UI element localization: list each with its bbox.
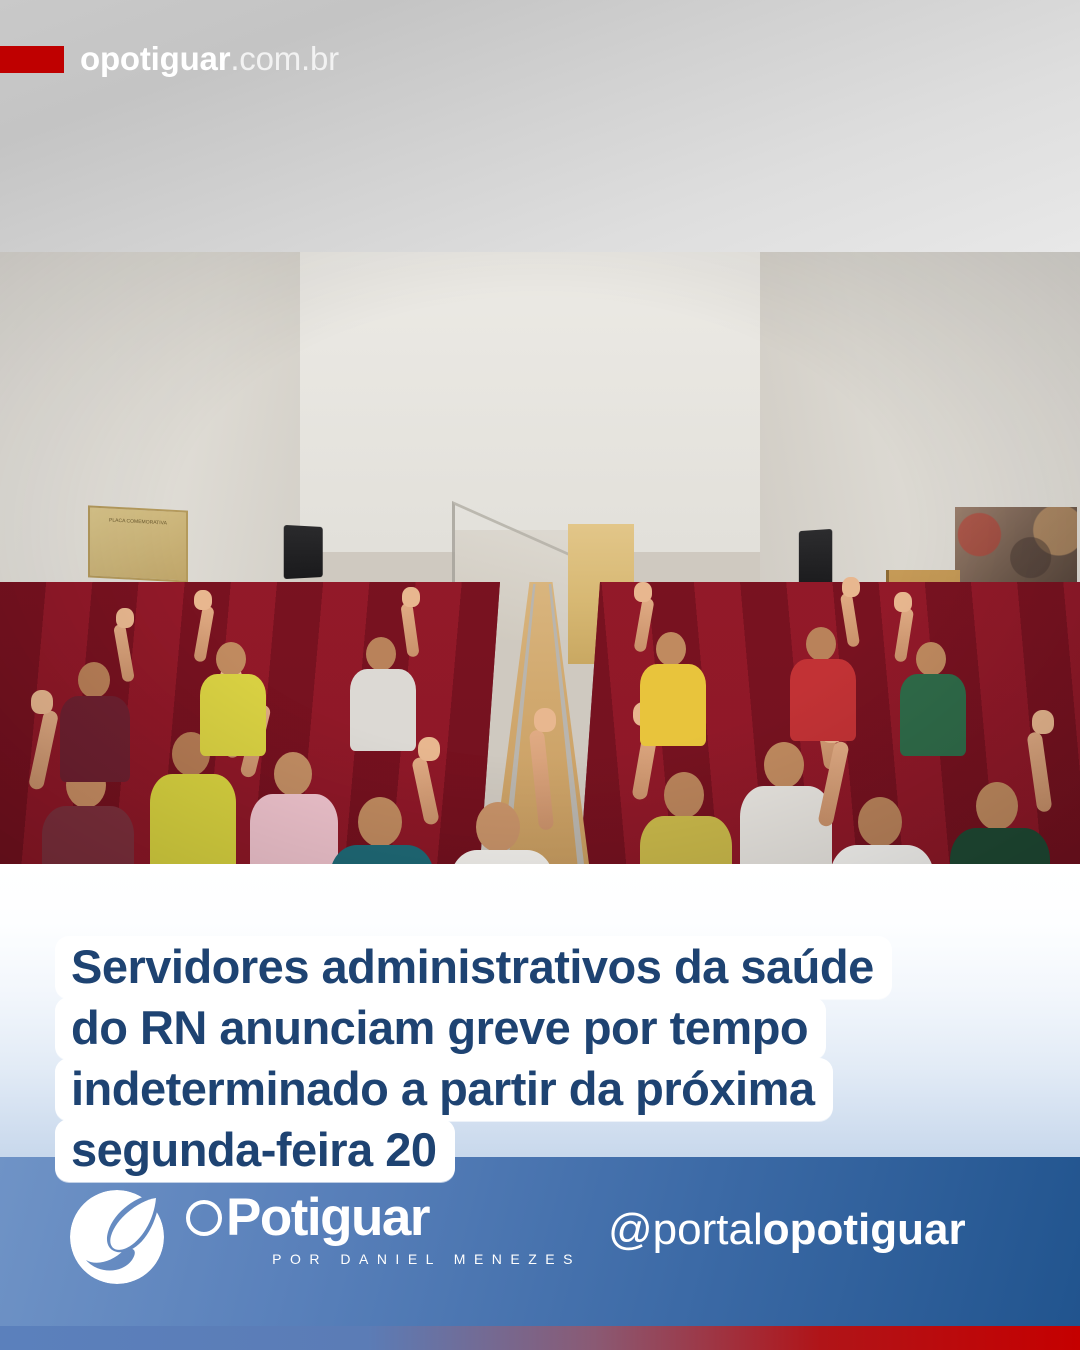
potiguar-swirl-leaf-icon <box>68 1188 166 1286</box>
audience-crowd <box>0 582 1080 864</box>
headline-block: Servidores administrativos da saúde do R… <box>55 936 892 1180</box>
logo-o-ring-icon <box>186 1200 222 1236</box>
headline-line: indeterminado a partir da próxima <box>55 1058 833 1121</box>
left-speaker-icon <box>284 525 323 579</box>
social-handle-name: opotiguar <box>763 1205 966 1254</box>
headline-line: segunda-feira 20 <box>55 1119 455 1182</box>
bottom-gradient-bar <box>0 1326 1080 1350</box>
red-accent-tab <box>0 46 64 73</box>
site-brand-name: opotiguar <box>80 40 230 77</box>
logo-wordmark: Potiguar <box>186 1188 581 1248</box>
headline-line: Servidores administrativos da saúde <box>55 936 892 999</box>
site-brand-tld: .com.br <box>230 40 339 77</box>
logo-word-text: Potiguar <box>226 1188 429 1248</box>
photo-back-wall <box>280 252 800 552</box>
brand-logo[interactable]: Potiguar POR DANIEL MENEZES <box>68 1184 518 1294</box>
social-handle-prefix: @portal <box>608 1205 763 1254</box>
logo-tagline: POR DANIEL MENEZES <box>186 1251 581 1267</box>
top-header-bar: opotiguar.com.br <box>0 0 1080 252</box>
wall-plaque-icon: PLACA COMEMORATIVA <box>88 505 188 582</box>
headline-line: do RN anunciam greve por tempo <box>55 997 826 1060</box>
logo-text-lockup: Potiguar POR DANIEL MENEZES <box>186 1188 581 1267</box>
wall-plaque-text: PLACA COMEMORATIVA <box>96 516 180 528</box>
news-photo: PLACA COMEMORATIVA <box>0 252 1080 864</box>
site-brand: opotiguar.com.br <box>80 36 339 82</box>
social-handle[interactable]: @portalopotiguar <box>608 1202 966 1258</box>
